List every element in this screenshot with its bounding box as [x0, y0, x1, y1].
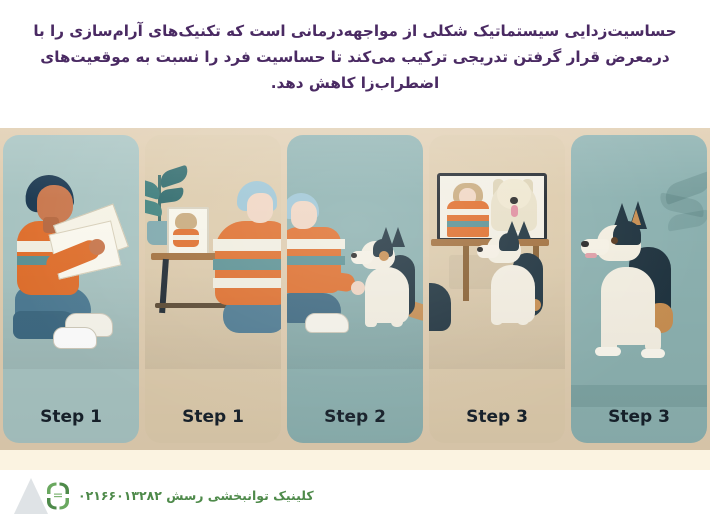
- panel-step-2-meeting-dog: Step 2: [287, 135, 423, 443]
- scene-screen-and-dog: [429, 135, 565, 443]
- screen-dog-nose: [510, 197, 518, 204]
- clinic-contact-text: کلینیک توانبخشی رسش ۰۲۱۶۶۰۱۳۲۸۲: [78, 488, 314, 503]
- header-banner: حساسیت‌زدایی سیستماتیک شکلی از مواجهه‌در…: [0, 0, 710, 128]
- panel-step-1-reading: Step 1: [3, 135, 139, 443]
- person-face: [291, 201, 317, 229]
- dog-paw: [595, 347, 621, 356]
- sweater-stripe-cream: [213, 278, 281, 288]
- sweater-stripe-cream: [287, 239, 345, 249]
- dog-eye: [611, 237, 618, 244]
- dog-ear: [391, 227, 405, 247]
- screen-dog-tongue: [511, 205, 518, 217]
- sweater-stripe-teal: [287, 256, 345, 265]
- panel-step-1-photo: Step 1: [145, 135, 281, 443]
- header-line-3: اضطراب‌زا کاهش دهد.: [16, 70, 694, 96]
- step-label: Step 2: [287, 407, 423, 427]
- sweater-stripe-cream: [213, 239, 281, 251]
- dog-paw: [641, 349, 665, 358]
- background-leaf: [666, 209, 707, 231]
- step-label: Step 3: [429, 407, 565, 427]
- dog-front-leg: [491, 301, 503, 325]
- step-label: Step 1: [3, 407, 139, 427]
- scene-person-and-dog: [287, 135, 423, 443]
- dog-nose: [581, 241, 589, 247]
- header-line-1: حساسیت‌زدایی سیستماتیک شکلی از مواجهه‌در…: [16, 18, 694, 44]
- footer-logo-group: [12, 474, 72, 518]
- header-line-2: درمعرض قرار گرفتن تدریجی ترکیب می‌کند تا…: [16, 44, 694, 70]
- sweater-stripe-teal: [447, 221, 489, 227]
- illustration-strip: Step 1: [0, 128, 710, 450]
- dog-tan-marking: [379, 251, 389, 261]
- panel-step-3-dog-alone: Step 3: [571, 135, 707, 443]
- dog-front-leg: [365, 303, 377, 327]
- header-paragraph: حساسیت‌زدایی سیستماتیک شکلی از مواجهه‌در…: [16, 18, 694, 96]
- step-label: Step 1: [145, 407, 281, 427]
- screen-person-sweater: [447, 201, 489, 237]
- framed-stripe: [173, 235, 199, 240]
- plant-leaf: [157, 187, 185, 203]
- framed-dog-head: [175, 213, 197, 229]
- footer-bar: کلینیک توانبخشی رسش ۰۲۱۶۶۰۱۳۲۸۲: [0, 470, 710, 521]
- scene-dog-alone: [571, 135, 707, 443]
- cream-divider-band: [0, 450, 710, 470]
- ground-shadow: [571, 385, 707, 407]
- plant-leaf: [157, 165, 190, 189]
- step-label: Step 3: [571, 407, 707, 427]
- rasesh-leaf-logo-icon: [42, 480, 74, 512]
- panel-step-3-screen: Step 3: [429, 135, 565, 443]
- person-shoe: [305, 313, 349, 333]
- dog-hind-leg: [517, 305, 529, 325]
- sweater-stripe-teal: [213, 259, 281, 270]
- scene-framed-dog-photo: [145, 135, 281, 443]
- dog-tongue: [585, 253, 597, 258]
- person-hand: [89, 239, 105, 255]
- dog-nose: [351, 253, 357, 258]
- dog-nose: [477, 247, 483, 252]
- dog-hind-leg: [391, 307, 403, 327]
- panel-row: Step 1: [0, 128, 710, 450]
- table-leg: [463, 245, 469, 301]
- scene-person-reading: [3, 135, 139, 443]
- dog-head-patch: [499, 233, 519, 251]
- sweater-stripe-cream: [447, 209, 489, 215]
- person-hand: [351, 281, 365, 295]
- person-shoe-back: [53, 327, 97, 349]
- person-face: [247, 193, 273, 223]
- dog-ear: [517, 221, 531, 239]
